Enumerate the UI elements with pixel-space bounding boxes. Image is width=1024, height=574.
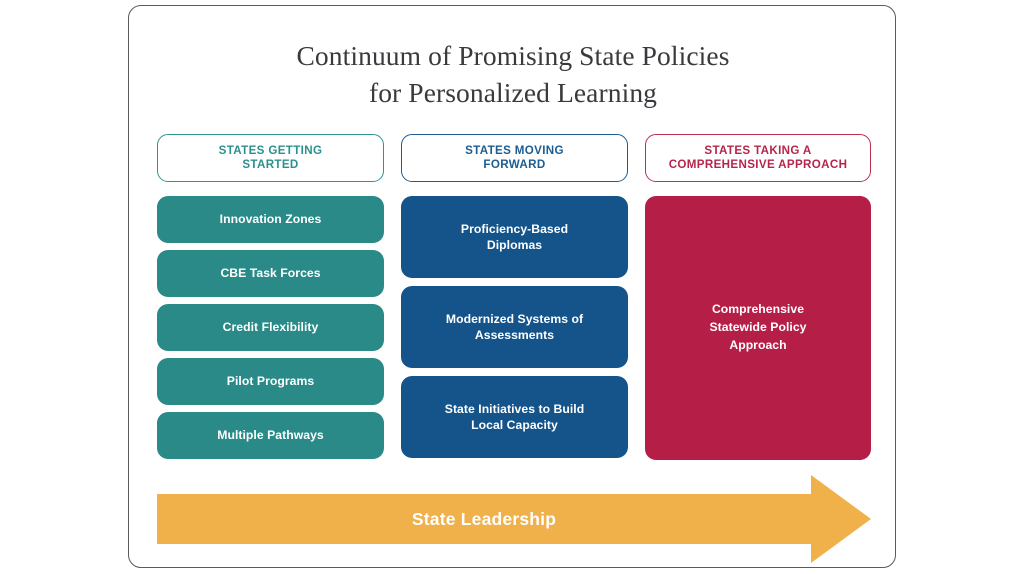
page-title-line-2: for Personalized Learning xyxy=(129,75,897,112)
column-header-line-1: STATES TAKING A xyxy=(704,144,811,157)
policy-card[interactable]: Pilot Programs xyxy=(157,358,384,405)
card-stack-comprehensive: Comprehensive Statewide Policy Approach xyxy=(645,196,871,460)
page-title: Continuum of Promising State Policies fo… xyxy=(129,38,897,111)
policy-card-label-2: Local Capacity xyxy=(471,418,558,432)
policy-card-label: CBE Task Forces xyxy=(220,265,320,281)
column-header-states-moving-forward: STATES MOVING FORWARD xyxy=(401,134,628,182)
policy-card[interactable]: CBE Task Forces xyxy=(157,250,384,297)
arrow-shape-icon xyxy=(157,475,871,563)
column-header-states-getting-started: STATES GETTING STARTED xyxy=(157,134,384,182)
policy-card-label: Proficiency-Based xyxy=(461,222,568,236)
policy-card[interactable]: Proficiency-Based Diplomas xyxy=(401,196,628,278)
column-header-line-2: FORWARD xyxy=(483,158,545,171)
policy-card[interactable]: State Initiatives to Build Local Capacit… xyxy=(401,376,628,458)
policy-card-label-2: Statewide Policy xyxy=(710,320,807,334)
column-header-line-1: STATES GETTING xyxy=(219,144,323,157)
policy-card-label: Comprehensive xyxy=(712,302,804,316)
policy-card-label-3: Approach xyxy=(729,338,786,352)
state-leadership-arrow: State Leadership xyxy=(157,475,871,563)
policy-card-label: Innovation Zones xyxy=(220,211,322,227)
policy-card[interactable]: Comprehensive Statewide Policy Approach xyxy=(645,196,871,460)
policy-card[interactable]: Innovation Zones xyxy=(157,196,384,243)
column-states-getting-started: STATES GETTING STARTED Innovation Zones … xyxy=(157,134,384,459)
policy-card-label-2: Assessments xyxy=(475,328,554,342)
card-stack-states-moving-forward: Proficiency-Based Diplomas Modernized Sy… xyxy=(401,196,628,458)
policy-card-label-2: Diplomas xyxy=(487,238,542,252)
policy-card[interactable]: Modernized Systems of Assessments xyxy=(401,286,628,368)
page-title-line-1: Continuum of Promising State Policies xyxy=(129,38,897,75)
column-header-states-taking-comprehensive-approach: STATES TAKING A COMPREHENSIVE APPROACH xyxy=(645,134,871,182)
policy-card-label: Multiple Pathways xyxy=(217,427,324,443)
column-header-line-2: COMPREHENSIVE APPROACH xyxy=(669,158,848,171)
policy-card-label: Credit Flexibility xyxy=(223,319,319,335)
policy-card-label: Modernized Systems of xyxy=(446,312,583,326)
policy-card[interactable]: Credit Flexibility xyxy=(157,304,384,351)
column-states-taking-comprehensive-approach: STATES TAKING A COMPREHENSIVE APPROACH C… xyxy=(645,134,871,460)
policy-card-label: State Initiatives to Build xyxy=(445,402,584,416)
card-stack-states-getting-started: Innovation Zones CBE Task Forces Credit … xyxy=(157,196,384,459)
column-header-line-1: STATES MOVING xyxy=(465,144,564,157)
column-header-line-2: STARTED xyxy=(242,158,298,171)
policy-card[interactable]: Multiple Pathways xyxy=(157,412,384,459)
policy-card-label: Pilot Programs xyxy=(227,373,314,389)
column-states-moving-forward: STATES MOVING FORWARD Proficiency-Based … xyxy=(401,134,628,458)
infographic-frame: Continuum of Promising State Policies fo… xyxy=(128,5,896,568)
